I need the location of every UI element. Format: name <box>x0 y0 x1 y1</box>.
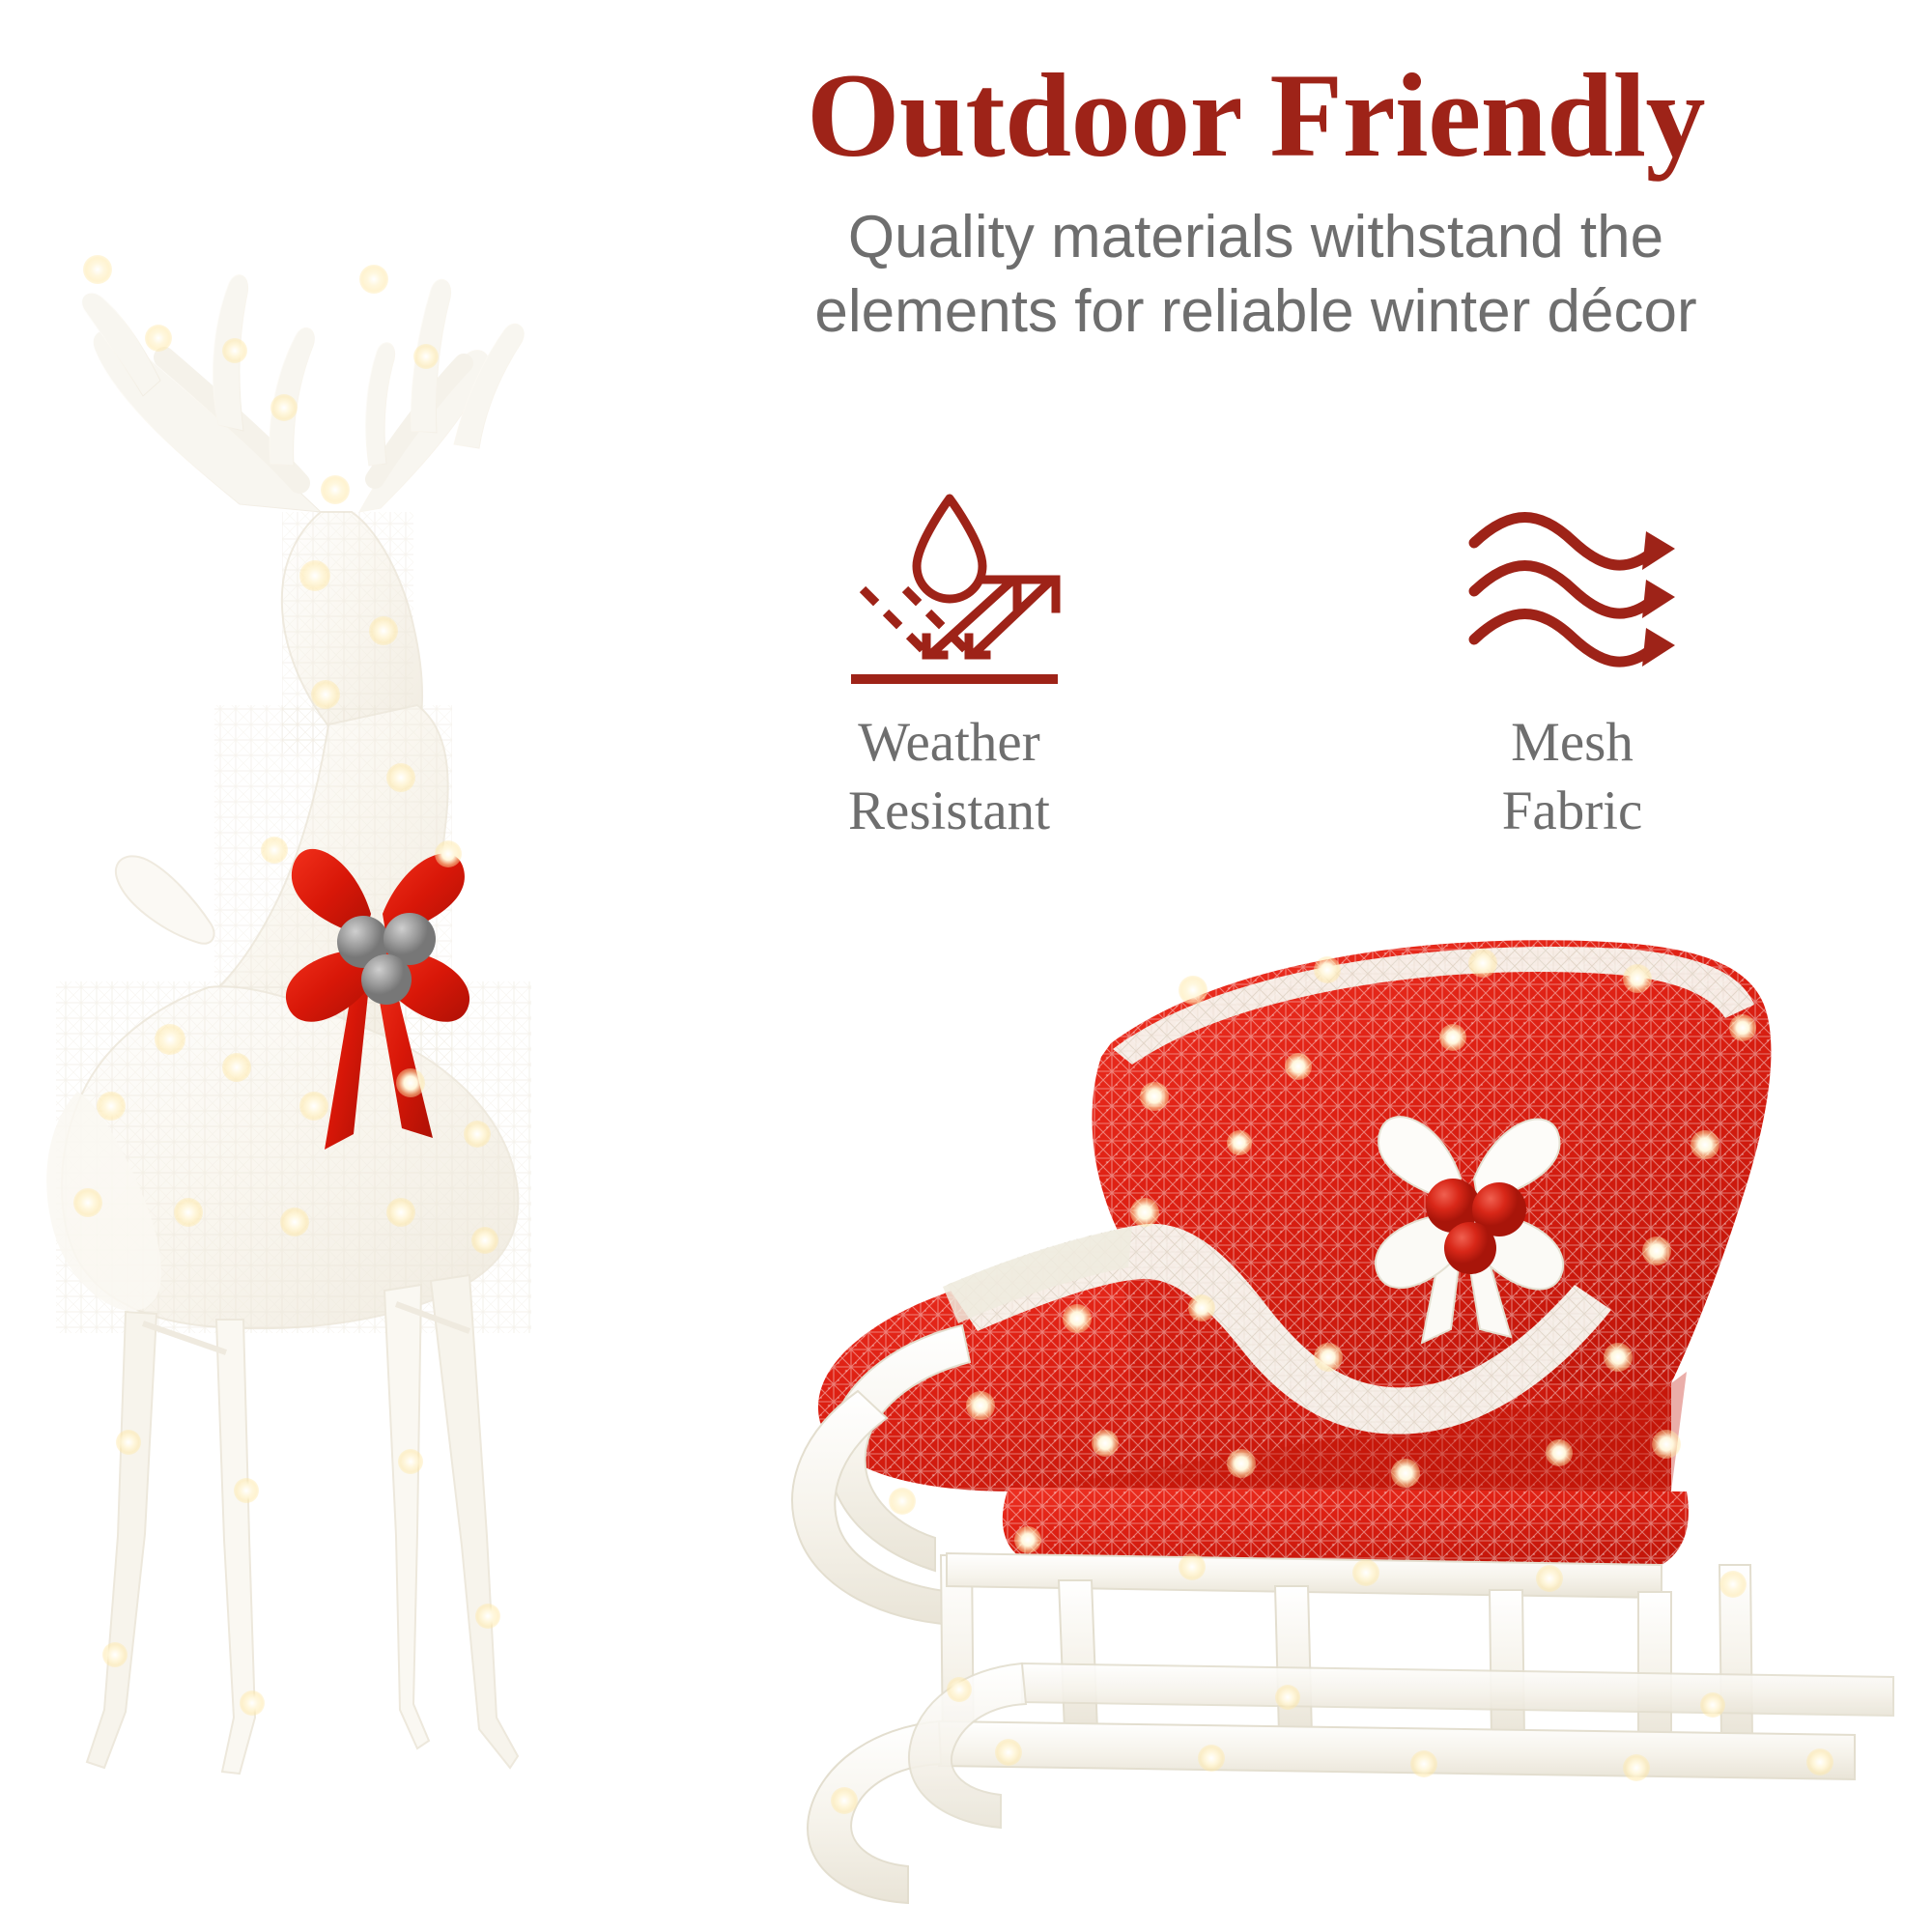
subtitle: Quality materials withstand the elements… <box>599 201 1913 350</box>
sleigh-body <box>818 940 1771 1565</box>
airflow-waves-icon <box>1457 483 1689 691</box>
ornament-ball <box>361 954 412 1005</box>
feature-mesh-fabric: Mesh Fabric <box>1346 483 1800 846</box>
feature-weather-resistant: Weather Resistant <box>723 483 1177 846</box>
lighted-reindeer-figure <box>0 222 676 1845</box>
feature-mesh-fabric-label: Mesh Fabric <box>1502 708 1643 846</box>
reindeer-antlers <box>82 275 525 512</box>
page-title: Outdoor Friendly <box>599 56 1913 176</box>
ornament-ball <box>1444 1222 1496 1274</box>
subtitle-line-2: elements for reliable winter décor <box>599 275 1913 350</box>
lighted-sleigh-figure <box>773 889 1913 1913</box>
subtitle-line-1: Quality materials withstand the <box>599 201 1913 275</box>
water-repellent-icon <box>834 483 1065 691</box>
reindeer-body <box>46 512 531 1333</box>
feature-label-line-2: Resistant <box>848 777 1050 845</box>
feature-weather-resistant-label: Weather Resistant <box>848 708 1050 846</box>
feature-label-line-1: Mesh <box>1502 708 1643 777</box>
header-text-block: Outdoor Friendly Quality materials withs… <box>599 56 1913 350</box>
feature-list: Weather Resistant <box>638 483 1884 846</box>
reindeer-legs <box>87 1275 518 1774</box>
feature-label-line-2: Fabric <box>1502 777 1643 845</box>
feature-label-line-1: Weather <box>848 708 1050 777</box>
product-feature-graphic: Outdoor Friendly Quality materials withs… <box>0 0 1932 1932</box>
